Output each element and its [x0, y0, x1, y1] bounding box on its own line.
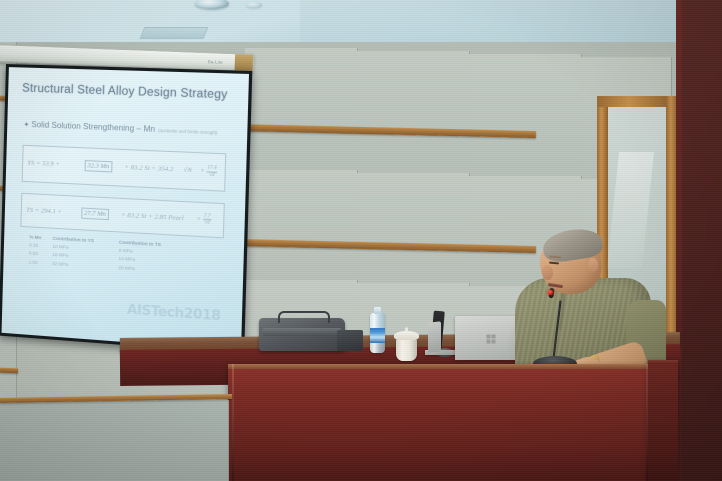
lower-left-wall — [0, 400, 229, 481]
slide-bullet-line: ✦Solid Solution Strengthening – Mn(auste… — [23, 120, 217, 137]
equation-ys-tail: + 83.2 Si + 354.2 — [124, 164, 173, 173]
bullet-text: Solid Solution Strengthening – Mn — [31, 120, 155, 134]
right-dark-wall — [676, 0, 722, 481]
equation-ts-fraction: 7.7 √d — [202, 214, 211, 226]
scene-root: Da-Lite Structural Steel Alloy Design St… — [0, 0, 722, 481]
podium-top-edge — [228, 364, 653, 369]
microsoft-logo-icon — [487, 334, 496, 343]
equation-box-ys: YS = 53.9 + 32.3 Mn + 83.2 Si + 354.2 √N… — [22, 145, 227, 192]
housing-brand-label: Da-Lite — [208, 59, 223, 65]
tea-cup — [396, 338, 417, 361]
ceiling-light-icon — [246, 2, 262, 8]
water-bottle — [370, 313, 385, 353]
equation-box-ts: TS = 294.1 + 27.7 Mn + 83.2 Si + 2.85 Pe… — [21, 193, 225, 238]
logo-square — [487, 339, 491, 343]
open-laptop-screen — [428, 321, 441, 352]
slide-title: Structural Steel Alloy Design Strategy — [22, 82, 228, 101]
presenter-ear — [588, 258, 598, 272]
projection-screen-surface: Structural Steel Alloy Design Strategy ✦… — [2, 67, 249, 351]
table-cell: 1.00 — [27, 257, 51, 267]
housing-end-cap — [235, 54, 254, 71]
microphone-led-indicator[interactable] — [548, 290, 553, 295]
equation-ys-lead: YS = 53.9 + — [27, 160, 60, 169]
wall-panel — [357, 51, 470, 174]
laptop-bag — [259, 318, 345, 351]
bag-flap — [262, 328, 341, 337]
bullet-marker-icon: ✦ — [23, 122, 29, 129]
wall-trim — [0, 368, 18, 373]
equation-ys-denominator: √d — [209, 172, 215, 177]
wall-panel — [469, 54, 582, 177]
contribution-table: % Mn Contribution to YS Contribution to … — [27, 233, 185, 275]
equation-ys-plus: + — [200, 168, 205, 175]
laptop-bag-secondary — [337, 330, 363, 351]
ceiling-vent — [140, 27, 209, 39]
logo-square — [492, 334, 496, 338]
wall-panel — [245, 170, 358, 281]
bullet-fine-print: (austenite and ferrite strength) — [158, 128, 217, 135]
logo-square — [487, 334, 491, 338]
equation-ts-tail: + 83.2 Si + 2.85 Pearl — [121, 212, 184, 223]
equation-ys-radical: √N — [183, 167, 192, 175]
logo-square — [492, 339, 496, 343]
wall-panel — [245, 48, 358, 171]
slide-watermark: AISTech2018 — [127, 303, 221, 325]
projection-screen-frame: Structural Steel Alloy Design Strategy ✦… — [0, 64, 252, 354]
podium-right-return — [648, 360, 678, 481]
equation-ys-highlight: 32.3 Mn — [84, 160, 112, 172]
podium-seam — [232, 364, 234, 481]
presentation-slide: Structural Steel Alloy Design Strategy ✦… — [2, 67, 249, 351]
equation-ts-highlight: 27.7 Mn — [81, 207, 109, 220]
wall-panel — [357, 173, 470, 284]
bag-handle — [278, 311, 330, 323]
glass-reflection — [607, 152, 654, 268]
equation-ts-lead: TS = 294.1 + — [26, 207, 62, 216]
bottle-cap — [374, 307, 382, 314]
equation-ts-denominator: √d — [204, 220, 210, 225]
podium — [228, 364, 653, 481]
door-frame — [597, 96, 677, 107]
bottle-label — [370, 328, 385, 342]
equation-ys-fraction: 17.4 √d — [206, 166, 218, 178]
equation-ts-plus: + — [196, 216, 201, 223]
